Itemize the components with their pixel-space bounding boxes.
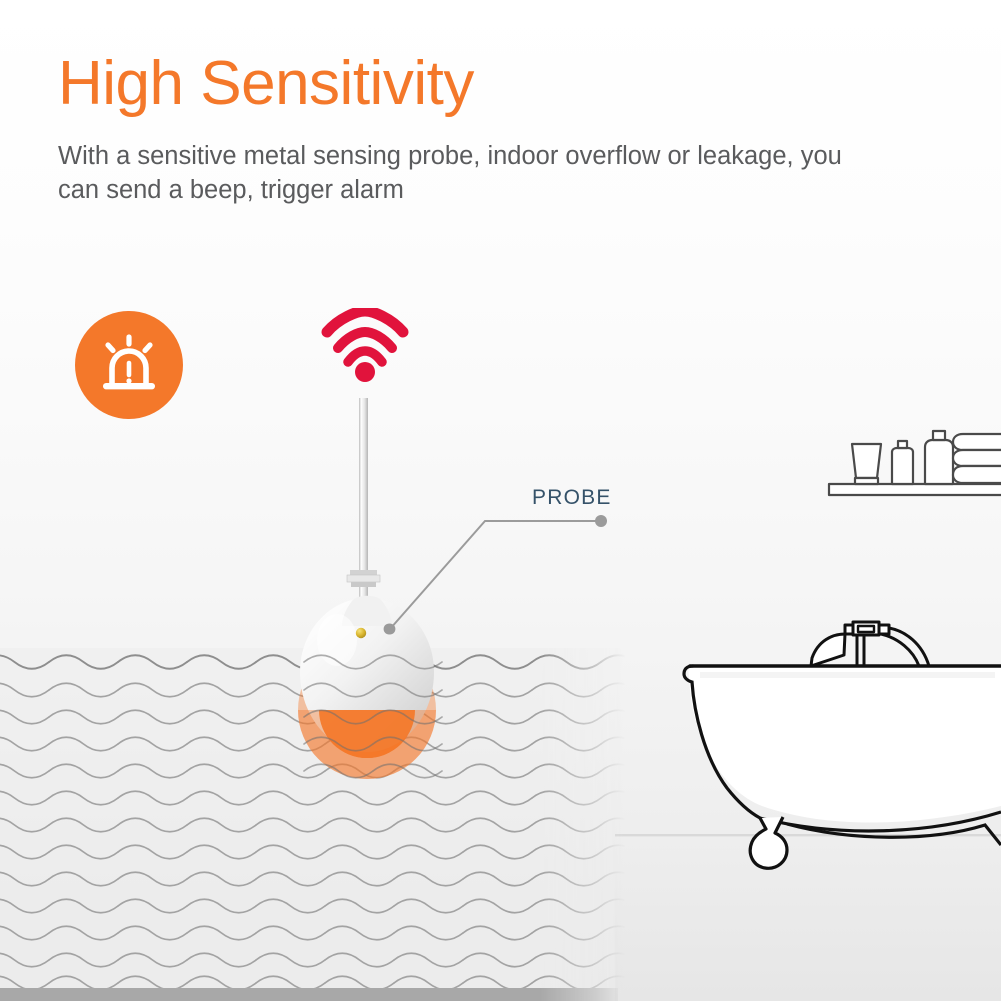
floor-band bbox=[615, 834, 1001, 1001]
clawfoot-bathtub bbox=[684, 622, 1001, 868]
wifi-signal-glyph bbox=[319, 308, 411, 388]
page-title: High Sensitivity bbox=[58, 52, 474, 115]
bathtub-faucet bbox=[811, 622, 929, 667]
wifi-signal-icon bbox=[319, 308, 411, 388]
page-subtitle: With a sensitive metal sensing probe, in… bbox=[58, 140, 848, 207]
antenna-rod bbox=[347, 398, 380, 601]
bathroom-shelf-group bbox=[829, 431, 1001, 495]
probe-callout-label: PROBE bbox=[532, 486, 612, 510]
product-feature-illustration: High Sensitivity With a sensitive metal … bbox=[0, 0, 1001, 1001]
status-led bbox=[356, 628, 366, 638]
alarm-siren-icon bbox=[75, 311, 183, 419]
probe-leader-line bbox=[385, 515, 607, 634]
alarm-siren-glyph bbox=[75, 311, 183, 419]
